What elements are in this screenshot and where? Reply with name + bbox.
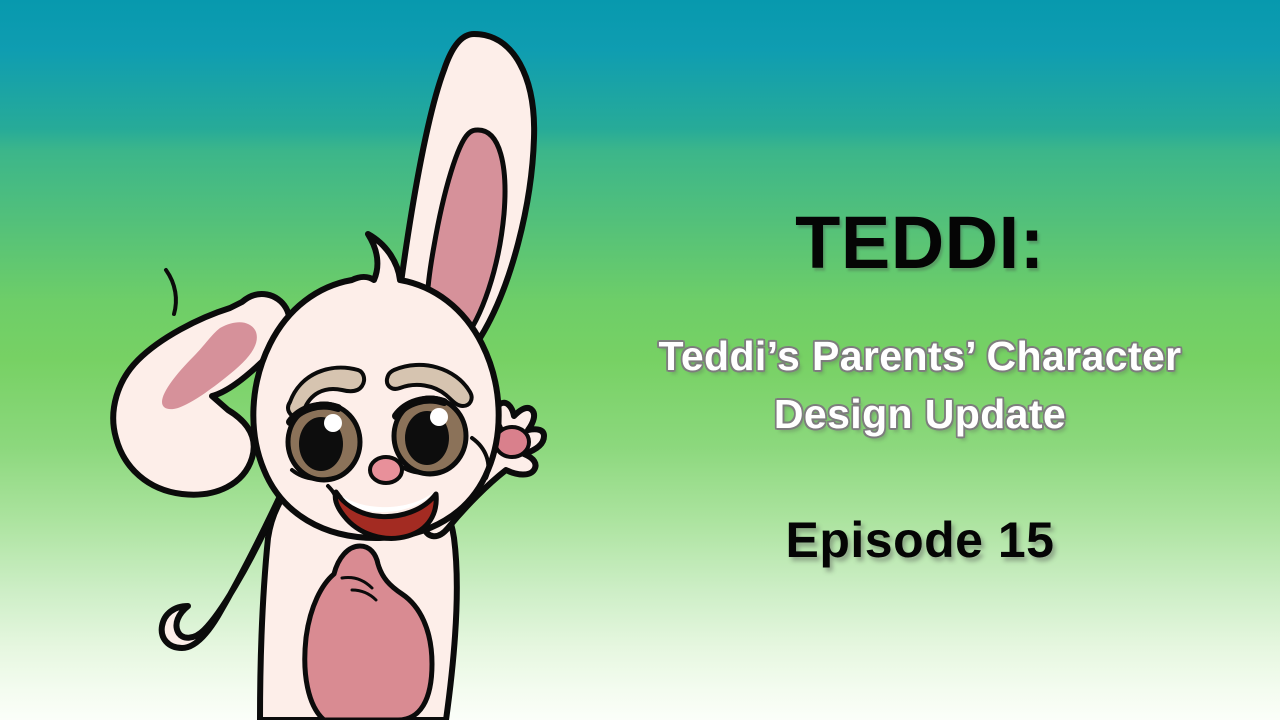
teddi-rabbit-illustration [42, 18, 602, 720]
title-text-block: TEDDI: Teddi’s Parents’ Character Design… [560, 0, 1280, 720]
rabbit-nose [370, 457, 402, 483]
rabbit-eye-left [288, 404, 360, 480]
rabbit-eye-right [394, 398, 466, 474]
title-card: TEDDI: Teddi’s Parents’ Character Design… [0, 0, 1280, 720]
page-title: TEDDI: [560, 206, 1280, 280]
subtitle-line-1: Teddi’s Parents’ Character [560, 327, 1280, 385]
subtitle: Teddi’s Parents’ Character Design Update [560, 327, 1280, 443]
subtitle-line-2: Design Update [560, 385, 1280, 443]
episode-label: Episode 15 [560, 515, 1280, 565]
